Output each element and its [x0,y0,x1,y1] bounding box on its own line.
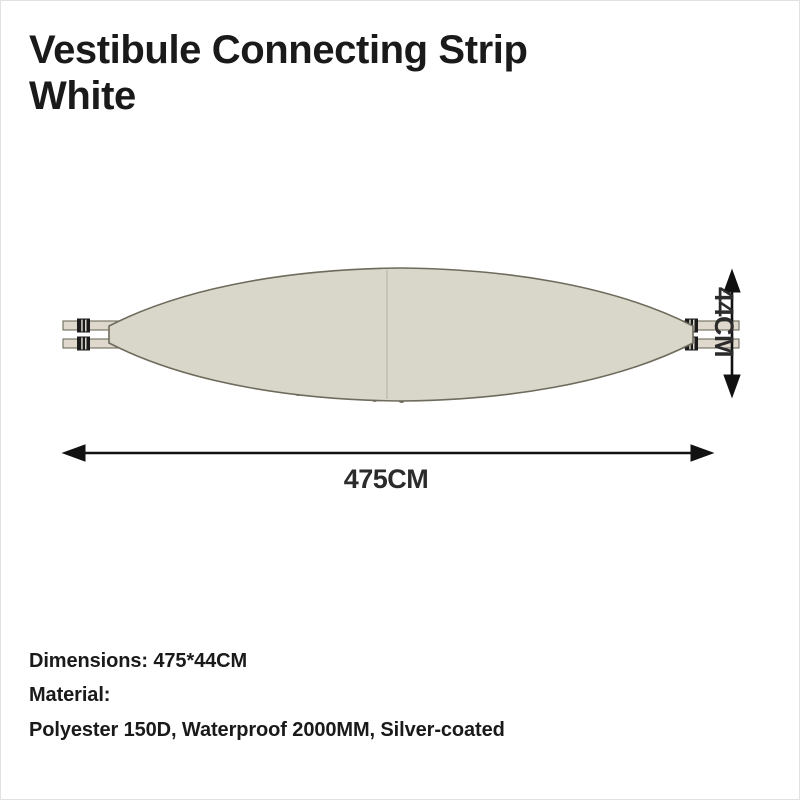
width-dimension-arrow [63,445,713,461]
specification-block: Dimensions: 475*44CM Material: Polyester… [29,644,505,747]
left-buckle-lower [77,337,90,351]
fabric-panel [109,268,693,401]
product-spec-page: Vestibule Connecting Strip White [0,0,800,800]
spec-line-material-heading: Material: [29,678,505,712]
height-dimension-label: 44CM [708,287,739,357]
width-dimension-label: 475CM [1,464,771,495]
spec-line-dimensions: Dimensions: 475*44CM [29,644,505,678]
page-title: Vestibule Connecting Strip White [29,27,669,120]
spec-line-material-detail: Polyester 150D, Waterproof 2000MM, Silve… [29,713,505,747]
left-buckle-upper [77,319,90,333]
